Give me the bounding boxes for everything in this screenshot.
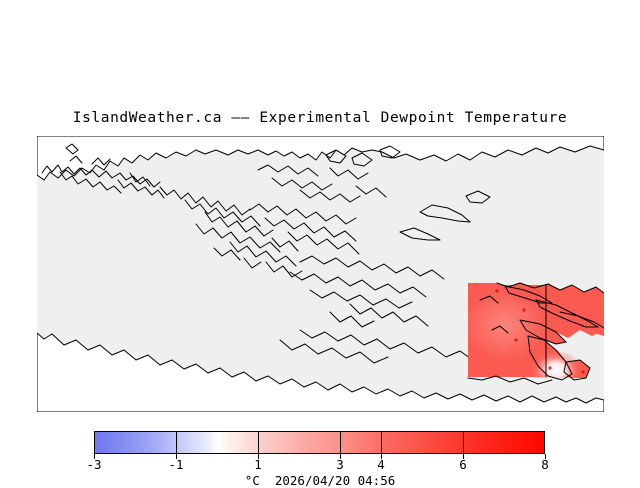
colorbar-tick-label: 4 [377, 457, 385, 472]
colorbar-divider [463, 431, 464, 454]
colorbar-divider [258, 431, 259, 454]
page-title: IslandWeather.ca —— Experimental Dewpoin… [0, 110, 640, 126]
colorbar-divider [176, 431, 177, 454]
colorbar-tick-label: 3 [336, 457, 344, 472]
colorbar-divider [381, 431, 382, 454]
colorbar-gradient [94, 431, 545, 454]
colorbar-tick-label: -3 [86, 457, 101, 472]
map-panel: IslandWeather.ca —— Experimental Dewpoin… [0, 0, 640, 420]
colorbar-tick-label: -1 [168, 457, 183, 472]
colorbar-divider [340, 431, 341, 454]
colorbar-panel: -3-113468 °C 2026/04/20 04:56 [0, 420, 640, 480]
coastline-map [0, 0, 640, 420]
colorbar-tick-label: 6 [459, 457, 467, 472]
colorbar-tick-axis: -3-113468 [0, 454, 640, 464]
data-soft-lobe [463, 289, 547, 361]
colorbar-tick-label: 8 [541, 457, 549, 472]
colorbar-caption: °C 2026/04/20 04:56 [0, 473, 640, 488]
colorbar-tick-label: 1 [254, 457, 262, 472]
colorbar [94, 431, 545, 454]
